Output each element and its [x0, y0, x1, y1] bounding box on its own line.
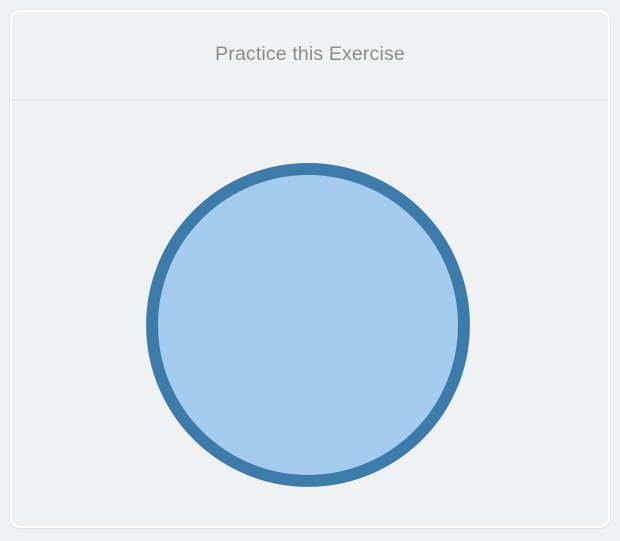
exercise-shape-canvas [12, 102, 608, 528]
card-header: Practice this Exercise [12, 12, 608, 100]
page-title: Practice this Exercise [215, 45, 405, 67]
circle-shape[interactable] [152, 169, 464, 481]
card-body [12, 102, 608, 528]
practice-exercise-card: Practice this Exercise [10, 10, 610, 528]
